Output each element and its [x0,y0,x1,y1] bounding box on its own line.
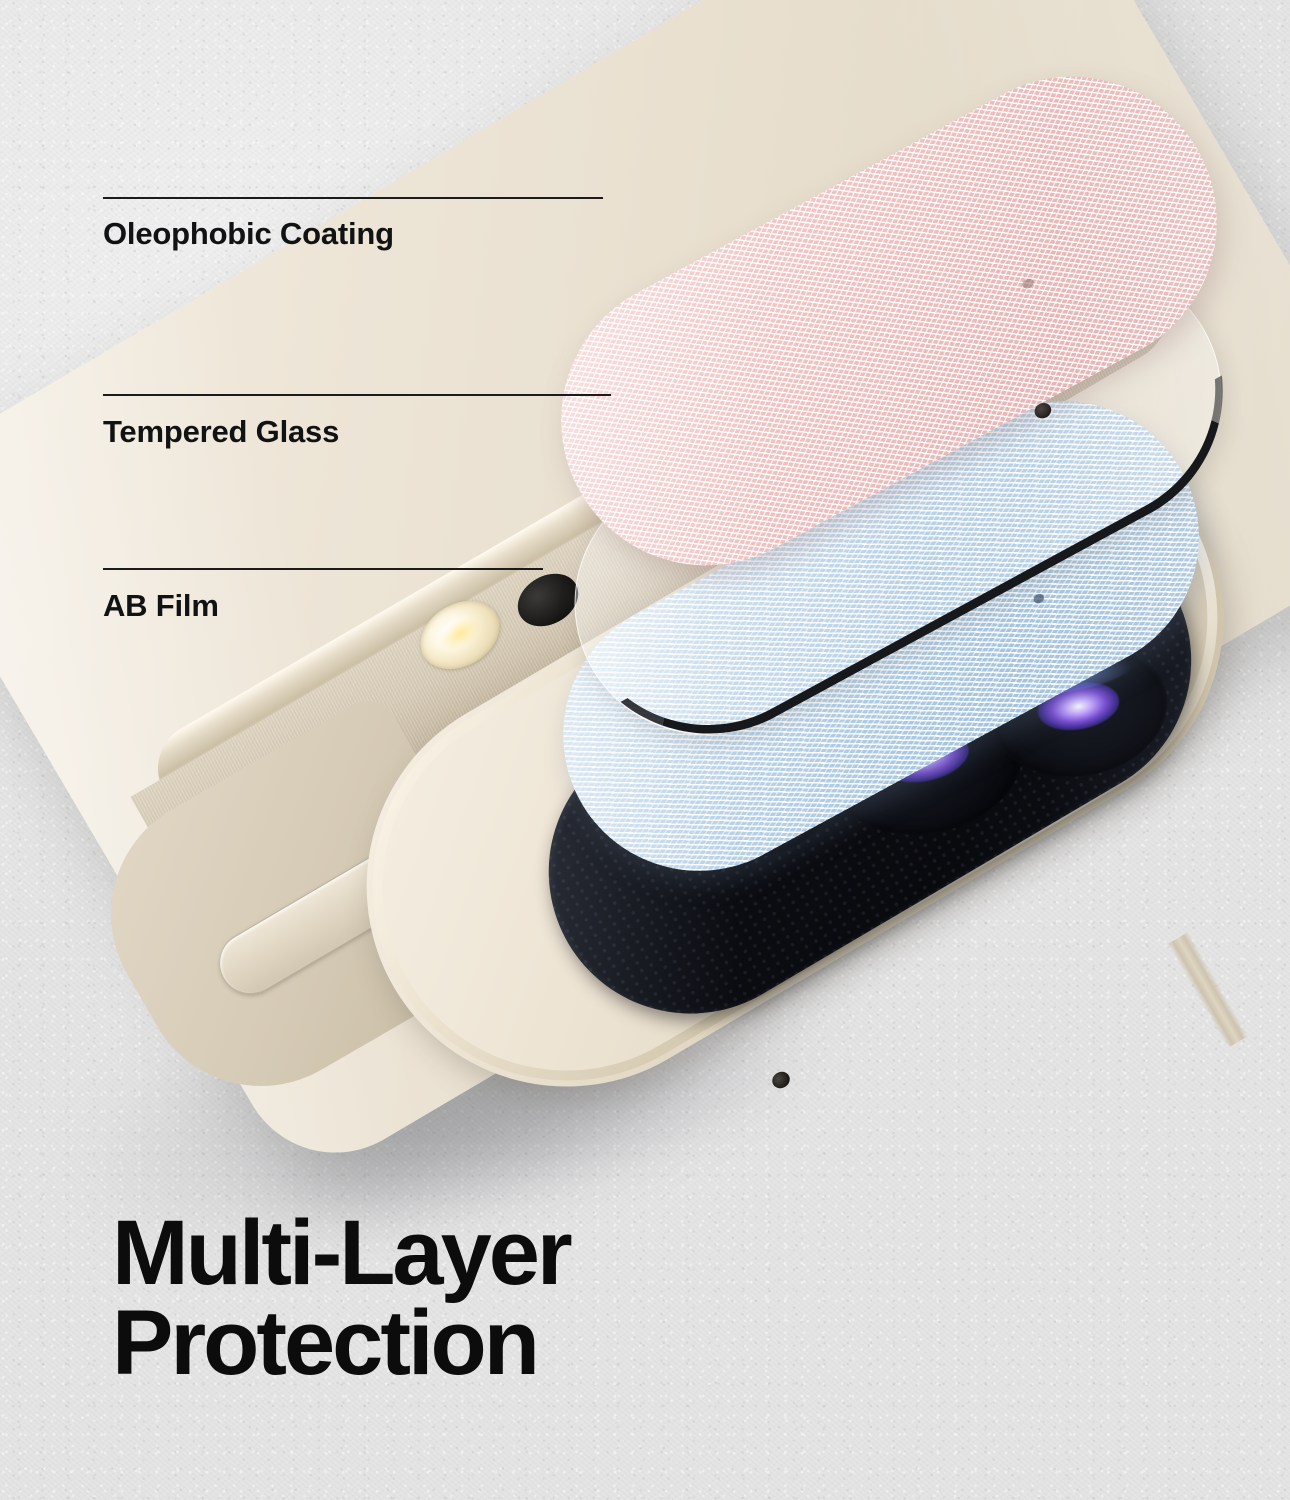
antenna-band-right [1168,932,1249,1048]
microphone-hole-icon [769,1069,793,1092]
headline-multi-layer-protection: Multi-Layer Protection [112,1208,570,1388]
leader-line-oleophobic-coating [103,197,603,199]
callout-label-tempered-glass: Tempered Glass [103,414,339,450]
product-scene: Oleophobic Coating Tempered Glass AB Fil… [0,0,1290,1500]
callout-label-ab-film: AB Film [103,588,219,624]
leader-line-ab-film [103,568,543,570]
callout-label-oleophobic-coating: Oleophobic Coating [103,216,394,252]
leader-line-tempered-glass [103,394,611,396]
